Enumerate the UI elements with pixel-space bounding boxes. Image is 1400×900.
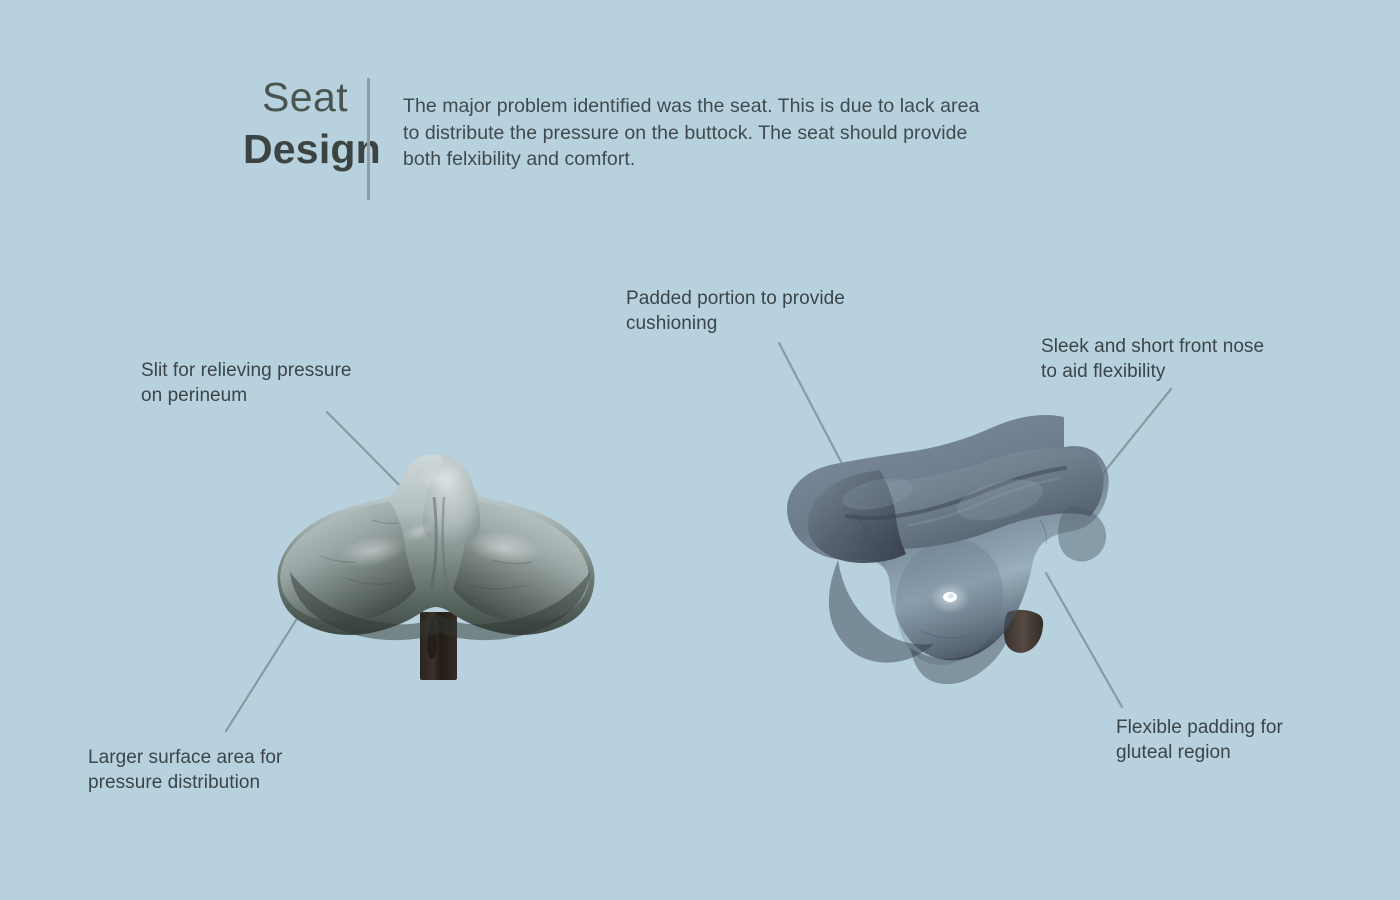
page-title: Seat Design bbox=[243, 72, 348, 176]
leader-line-slit bbox=[327, 412, 427, 513]
seat-front-view bbox=[277, 455, 594, 680]
header-block: Seat Design The major problem identified… bbox=[243, 72, 943, 207]
leader-line-sleek-nose bbox=[1101, 389, 1171, 476]
header-divider bbox=[367, 78, 370, 200]
intro-paragraph: The major problem identified was the sea… bbox=[403, 93, 993, 173]
leader-line-larger-surface bbox=[226, 541, 346, 731]
leader-line-flexible-padding bbox=[1046, 573, 1122, 707]
title-line-design: Design bbox=[243, 122, 348, 176]
slide-canvas: Seat Design The major problem identified… bbox=[0, 0, 1400, 900]
callout-label-padded-portion: Padded portion to provide cushioning bbox=[626, 286, 946, 336]
seat-side-view bbox=[787, 415, 1109, 684]
callout-label-larger-surface: Larger surface area for pressure distrib… bbox=[88, 745, 388, 795]
title-line-seat: Seat bbox=[243, 72, 348, 122]
leader-line-padded-portion bbox=[779, 343, 851, 481]
callout-label-slit: Slit for relieving pressure on perineum bbox=[141, 358, 441, 408]
callout-label-sleek-nose: Sleek and short front nose to aid flexib… bbox=[1041, 334, 1341, 384]
callout-label-flexible-padding: Flexible padding for gluteal region bbox=[1116, 715, 1376, 765]
